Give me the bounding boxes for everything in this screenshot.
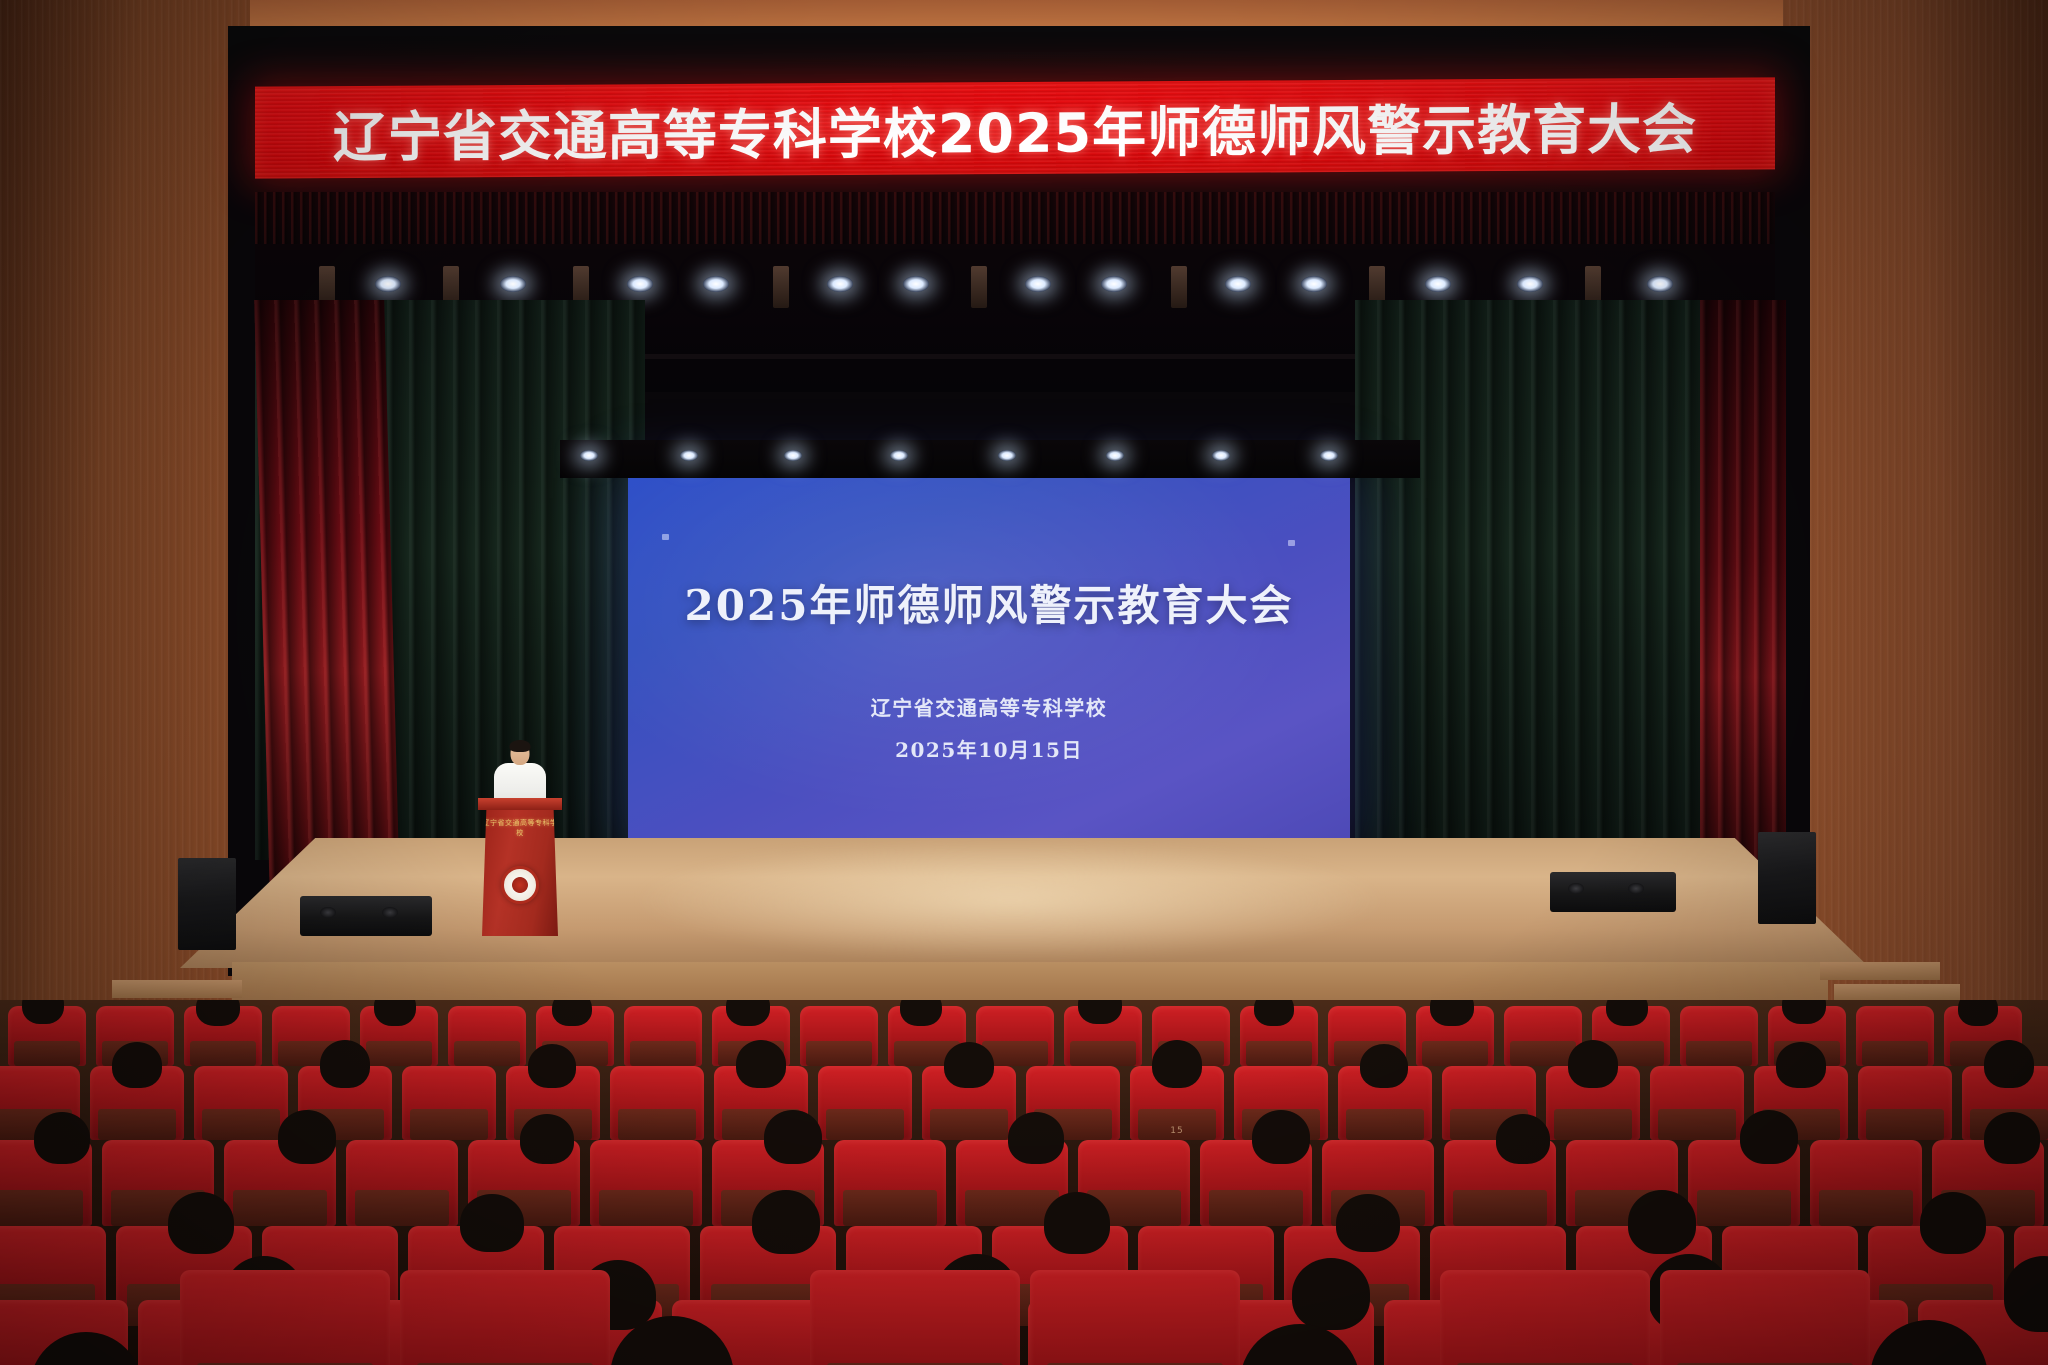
seat: 22: [180, 1270, 390, 1365]
speaker-cone-icon: [382, 907, 398, 918]
seat: [346, 1140, 458, 1226]
seat: [400, 1270, 610, 1365]
audience-head: [320, 1040, 370, 1088]
audience-head: [34, 1112, 90, 1164]
audience-head: [1920, 1192, 1986, 1254]
stage-spotlight: [827, 276, 853, 292]
seat: [1660, 1270, 1870, 1365]
podium-nameplate: 辽宁省交通高等专科学校: [482, 818, 558, 838]
seat: [448, 1006, 526, 1066]
stage-floor-light-pool: [640, 840, 1380, 960]
audience-head: [1360, 1044, 1408, 1088]
audience-head: [736, 1040, 786, 1088]
seat: [1680, 1006, 1758, 1066]
seat: [624, 1006, 702, 1066]
seat: [610, 1066, 704, 1140]
audience-seating-area: 15: [0, 1000, 2048, 1365]
audience-head: [460, 1194, 524, 1252]
seat: [834, 1140, 946, 1226]
stage-spotlight: [890, 450, 908, 461]
audience-head: [764, 1110, 822, 1164]
stage-spotlight: [1425, 276, 1451, 292]
line-array-speaker-right: [1758, 832, 1816, 924]
stage-lamp-body: [971, 266, 987, 308]
screen-title: 2025年师德师风警示教育大会: [628, 572, 1350, 633]
speaker-cone-icon: [1628, 883, 1644, 894]
stage-spotlight: [1101, 276, 1127, 292]
seat-number: 15: [1138, 1126, 1217, 1136]
audience-head: [1008, 1112, 1064, 1164]
audience-head: [1776, 1042, 1826, 1088]
stage-spotlight: [998, 450, 1016, 461]
auditorium-photo: 辽宁省交通高等专科学校2025年师德师风警示教育大会: [0, 0, 2048, 1365]
seat: [800, 1006, 878, 1066]
led-banner: 辽宁省交通高等专科学校2025年师德师风警示教育大会: [255, 77, 1775, 178]
audience-head: [752, 1190, 820, 1254]
stage-spotlight: [580, 450, 598, 461]
audience-head: [552, 1000, 592, 1026]
stage-spotlight: [1301, 276, 1327, 292]
audience-head: [278, 1110, 336, 1164]
truss-valance: [255, 192, 1775, 244]
audience-head: [1984, 1112, 2040, 1164]
stage-spotlight: [1517, 276, 1543, 292]
screen-subtitle-date: 2025年10月15日: [628, 734, 1350, 763]
seat: [194, 1066, 288, 1140]
audience-head: [1336, 1194, 1400, 1252]
led-banner-text: 辽宁省交通高等专科学校2025年师德师风警示教育大会: [255, 77, 1775, 178]
podium-top-surface: [478, 798, 562, 810]
audience-head: [1740, 1110, 1798, 1164]
stage-spotlight: [627, 276, 653, 292]
podium: 辽宁省交通高等专科学校: [482, 804, 558, 936]
audience-head: [1958, 1000, 1998, 1026]
screen-speck: [1288, 540, 1295, 546]
stage-spotlight: [1106, 450, 1124, 461]
audience-head: [196, 1000, 240, 1026]
red-side-drape-left: [254, 300, 400, 900]
stage-spotlight: [680, 450, 698, 461]
stage-spotlight: [1212, 450, 1230, 461]
audience-head: [112, 1042, 162, 1088]
stage-spotlight: [1647, 276, 1673, 292]
audience-head: [1044, 1192, 1110, 1254]
stage-lamp-body: [1171, 266, 1187, 308]
stage-spotlight: [703, 276, 729, 292]
seat: [1810, 1140, 1922, 1226]
speaker-cone-icon: [1568, 883, 1584, 894]
stage-floor-monitor-right: [1550, 872, 1676, 912]
stage-lamp-body: [773, 266, 789, 308]
front-light-bar: [560, 440, 1420, 478]
seat: [402, 1066, 496, 1140]
audience-head: [520, 1114, 574, 1164]
stage-spotlight: [903, 276, 929, 292]
speaker-cone-icon: [320, 907, 336, 918]
line-array-speaker-left: [178, 858, 236, 950]
audience-head: [1152, 1040, 1202, 1088]
projection-screen: 2025年师德师风警示教育大会 辽宁省交通高等专科学校 2025年10月15日: [628, 478, 1350, 848]
stage-spotlight: [784, 450, 802, 461]
seat: [1440, 1270, 1650, 1365]
seat: [590, 1140, 702, 1226]
seat: [1650, 1066, 1744, 1140]
seat: [818, 1066, 912, 1140]
audience-head: [1568, 1040, 1618, 1088]
red-side-drape-right: [1700, 300, 1786, 880]
audience-head: [1628, 1190, 1696, 1254]
audience-head: [1606, 1000, 1648, 1026]
audience-head: [1254, 1000, 1294, 1026]
school-crest-icon: [501, 866, 539, 904]
stage-floor-monitor-left: [300, 896, 432, 936]
audience-head: [1496, 1114, 1550, 1164]
stage-spotlight: [1025, 276, 1051, 292]
stage-step-right: [1820, 962, 1940, 980]
audience-head: [1252, 1110, 1310, 1164]
stage-spotlight: [500, 276, 526, 292]
seat: [810, 1270, 1020, 1365]
screen-speck: [662, 534, 669, 540]
proscenium-header: [228, 26, 1810, 80]
speaker-hair: [510, 740, 531, 752]
audience-head: [1292, 1258, 1370, 1330]
stage-spotlight: [1225, 276, 1251, 292]
stage-spotlight: [375, 276, 401, 292]
audience-head: [1984, 1040, 2034, 1088]
seat: [1856, 1006, 1934, 1066]
audience-head: [528, 1044, 576, 1088]
stage-spotlight: [1320, 450, 1338, 461]
stage-step-left: [112, 980, 242, 998]
audience-head: [944, 1042, 994, 1088]
seat: 19: [1030, 1270, 1240, 1365]
seat: [1858, 1066, 1952, 1140]
audience-head: [900, 1000, 942, 1026]
screen-subtitle-org: 辽宁省交通高等专科学校: [628, 692, 1350, 721]
audience-head: [168, 1192, 234, 1254]
